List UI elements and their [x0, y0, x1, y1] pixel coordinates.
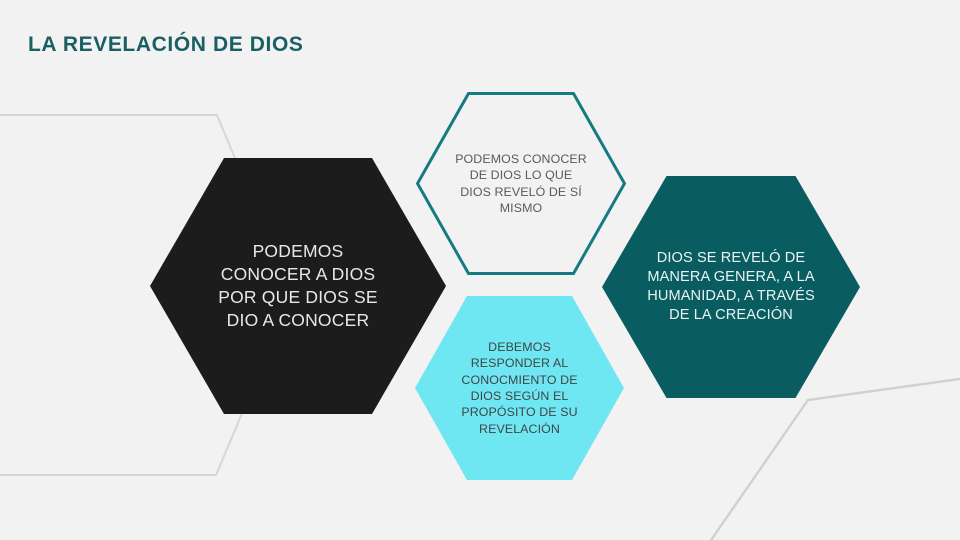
- slide-canvas: LA REVELACIÓN DE DIOS PODEMOS CONOCER A …: [0, 0, 960, 540]
- hexagon-debemos-responder[interactable]: DEBEMOS RESPONDER AL CONOCMIENTO DE DIOS…: [415, 296, 624, 480]
- page-title: LA REVELACIÓN DE DIOS: [28, 33, 304, 57]
- hexagon-label: PODEMOS CONOCER DE DIOS LO QUE DIOS REVE…: [434, 151, 608, 217]
- hexagon-label: DIOS SE REVELÓ DE MANERA GENERA, A LA HU…: [624, 249, 838, 326]
- hexagon-podemos-conocer[interactable]: PODEMOS CONOCER A DIOS POR QUE DIOS SE D…: [150, 158, 446, 414]
- hexagon-label: DEBEMOS RESPONDER AL CONOCMIENTO DE DIOS…: [438, 339, 600, 437]
- hexagon-label: PODEMOS CONOCER A DIOS POR QUE DIOS SE D…: [186, 240, 411, 332]
- hexagon-podemos-conocer-de-dios[interactable]: PODEMOS CONOCER DE DIOS LO QUE DIOS REVE…: [416, 92, 626, 275]
- hexagon-dios-se-revelo[interactable]: DIOS SE REVELÓ DE MANERA GENERA, A LA HU…: [602, 176, 860, 398]
